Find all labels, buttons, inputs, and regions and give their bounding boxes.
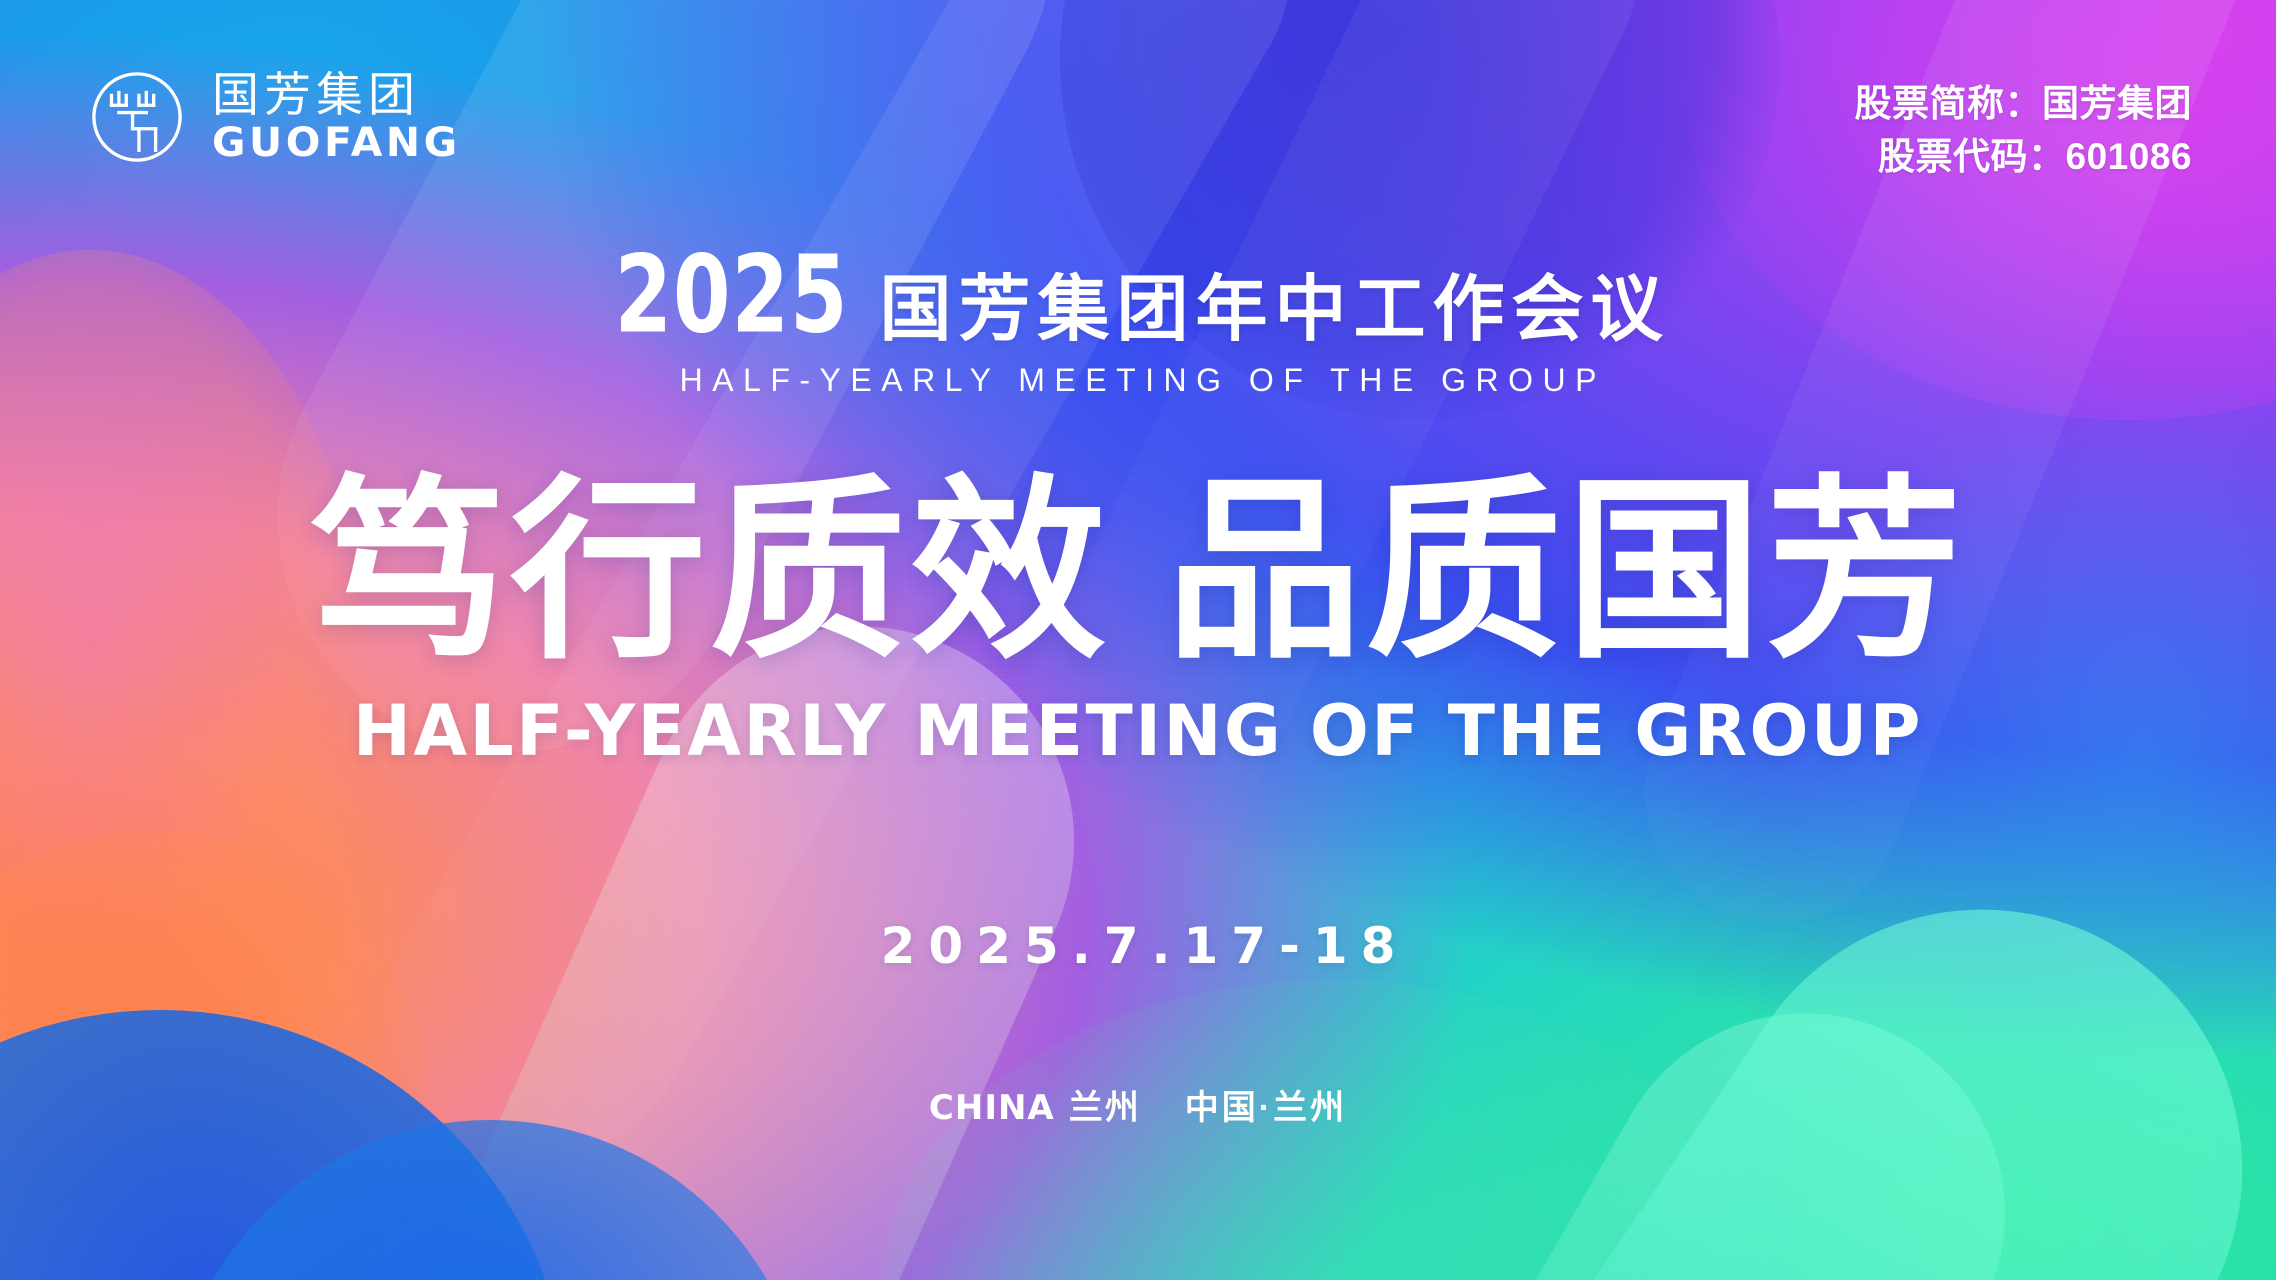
brand-name-cn: 国芳集团 xyxy=(212,71,456,118)
hero-slogan-block: 笃行质效品质国芳 HALF-YEARLY MEETING OF THE GROU… xyxy=(0,470,2276,772)
brand-logo-lockup: 国芳集团 GUOFANG xyxy=(88,68,456,166)
deer-in-circle-logo-icon xyxy=(88,68,186,166)
location-full-cn: 中国·兰州 xyxy=(1185,1080,1347,1129)
brand-name-en: GUOFANG xyxy=(212,123,461,163)
event-year: 2025 xyxy=(614,243,848,346)
event-subtitle-en: HALF-YEARLY MEETING OF THE GROUP xyxy=(670,362,1606,399)
hero-slogan-part-1: 笃行质效 xyxy=(310,462,1110,681)
event-title-cn: 国芳集团年中工作会议 xyxy=(879,274,1669,346)
event-title-row: 2025 国芳集团年中工作会议 xyxy=(607,262,1670,346)
event-date: 2025.7.17-18 xyxy=(0,917,2276,975)
location-country-en: CHINA xyxy=(929,1088,1055,1128)
hero-slogan: 笃行质效品质国芳 xyxy=(310,470,1966,674)
event-title-block: 2025 国芳集团年中工作会议 HALF-YEARLY MEETING OF T… xyxy=(0,262,2276,399)
brand-wordmark: 国芳集团 GUOFANG xyxy=(212,71,456,163)
banner-content: 国芳集团 GUOFANG 股票简称：国芳集团 股票代码：601086 2025 … xyxy=(0,0,2276,1280)
event-location: CHINA 兰州 中国·兰州 xyxy=(0,1080,2276,1129)
conference-banner: 国芳集团 GUOFANG 股票简称：国芳集团 股票代码：601086 2025 … xyxy=(0,0,2276,1280)
hero-subtitle-en: HALF-YEARLY MEETING OF THE GROUP xyxy=(353,690,1923,772)
hero-slogan-part-2: 品质国芳 xyxy=(1166,462,1966,681)
stock-code-line: 股票代码：601086 xyxy=(1855,131,2193,184)
location-city-cn: 兰州 xyxy=(1069,1080,1141,1129)
stock-abbreviation-line: 股票简称：国芳集团 xyxy=(1855,78,2193,131)
stock-info: 股票简称：国芳集团 股票代码：601086 xyxy=(1855,78,2193,183)
